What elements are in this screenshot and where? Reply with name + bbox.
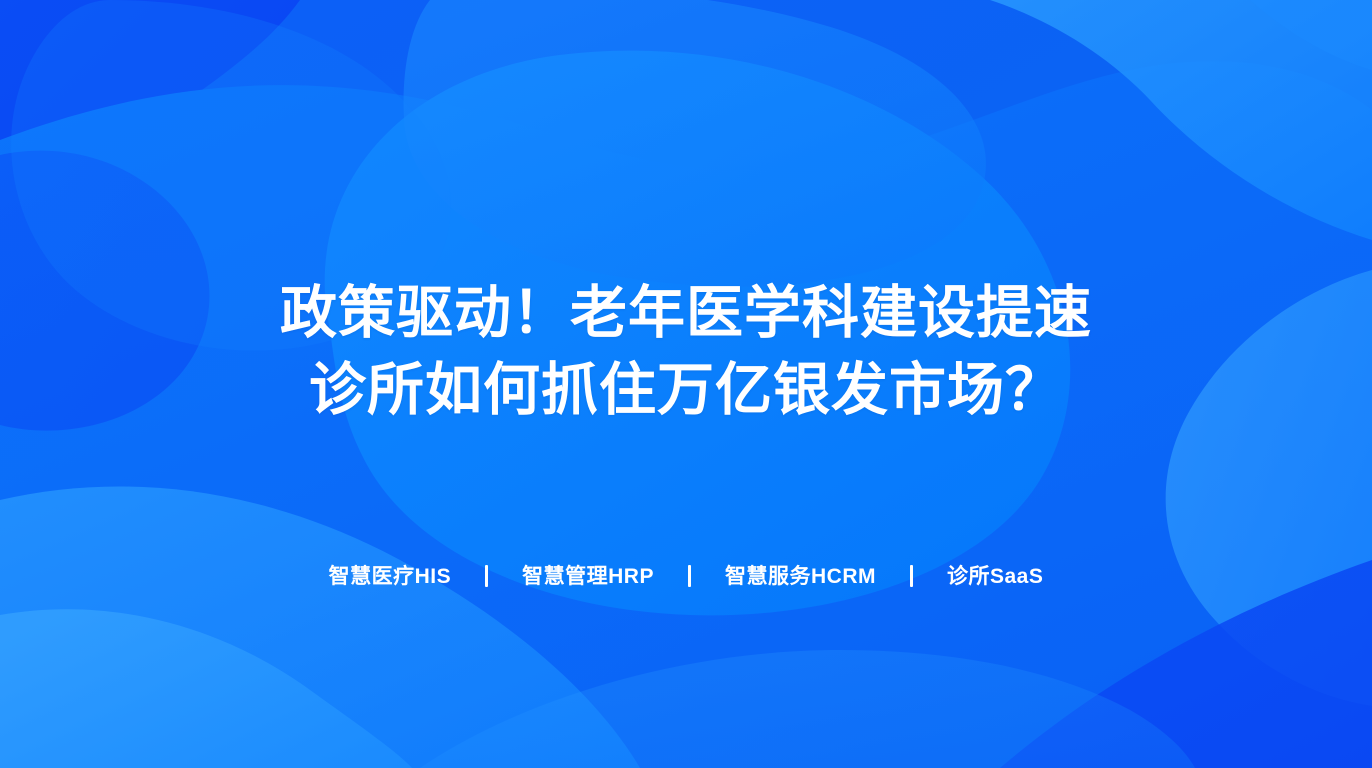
poster-content: 政策驱动！老年医学科建设提速 诊所如何抓住万亿银发市场？ 智慧医疗HIS 智慧管… [0, 0, 1372, 768]
poster-canvas: 政策驱动！老年医学科建设提速 诊所如何抓住万亿银发市场？ 智慧医疗HIS 智慧管… [0, 0, 1372, 768]
product-item-saas: 诊所SaaS [947, 560, 1043, 590]
product-item-his: 智慧医疗HIS [329, 560, 452, 590]
headline-line-1: 政策驱动！老年医学科建设提速 [0, 276, 1372, 351]
product-separator-3 [910, 565, 913, 587]
product-item-hrp: 智慧管理HRP [522, 560, 654, 590]
product-bar: 智慧医疗HIS 智慧管理HRP 智慧服务HCRM 诊所SaaS [0, 560, 1372, 590]
product-separator-2 [688, 565, 691, 587]
product-item-hcrm: 智慧服务HCRM [725, 560, 876, 590]
product-separator-1 [485, 565, 488, 587]
headline: 政策驱动！老年医学科建设提速 诊所如何抓住万亿银发市场？ [0, 276, 1372, 428]
headline-line-2: 诊所如何抓住万亿银发市场？ [0, 353, 1372, 428]
